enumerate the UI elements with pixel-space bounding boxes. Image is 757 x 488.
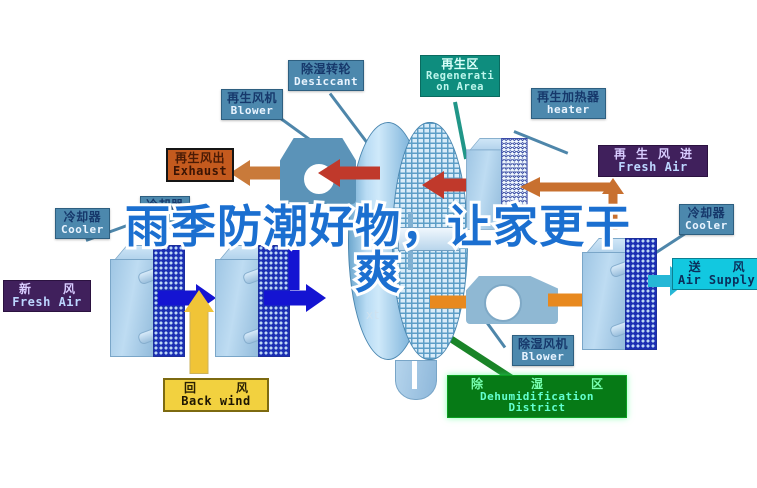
- arrow-regen-hot-1: [318, 160, 380, 186]
- label-dehumidification-district-en2: District: [453, 402, 621, 414]
- label-cooler-right[interactable]: 冷却器 Cooler: [679, 204, 734, 235]
- label-regeneration-fresh-air-cn: 再生风进: [604, 148, 702, 161]
- label-desiccant-rotor-cn: 除湿转轮: [294, 63, 358, 76]
- watermark-text: xt: [366, 308, 380, 322]
- label-dehumidification-blower-cn: 除湿风机: [518, 338, 568, 351]
- label-dehumidification-blower-en: Blower: [518, 351, 568, 363]
- label-cooler-left-en: Cooler: [61, 224, 104, 236]
- label-cooler-left-cn: 冷却器: [61, 211, 104, 224]
- label-regeneration-blower-en: Blower: [227, 105, 277, 117]
- rotor-support-foot: [395, 360, 437, 400]
- label-regeneration-heater-cn: 再生加热器: [537, 91, 600, 104]
- diagram-canvas: xt: [0, 0, 757, 488]
- label-back-wind[interactable]: 回 风 Back wind: [163, 378, 269, 412]
- label-cooler-left[interactable]: 冷却器 Cooler: [55, 208, 110, 239]
- label-regeneration-exhaust-cn: 再生风出: [173, 152, 227, 165]
- label-regeneration-area-cn: 再生区: [426, 58, 494, 71]
- label-air-supply-cn: 送 风: [678, 261, 755, 274]
- label-fresh-air-cn: 新 风: [9, 283, 85, 296]
- label-cooler-right-en: Cooler: [685, 220, 728, 232]
- label-regeneration-heater[interactable]: 再生加热器 heater: [531, 88, 606, 119]
- label-fresh-air[interactable]: 新 风 Fresh Air: [3, 280, 91, 312]
- label-regeneration-blower-cn: 再生风机: [227, 92, 277, 105]
- label-desiccant-rotor-en: Desiccant: [294, 76, 358, 88]
- label-regeneration-exhaust-en: Exhaust: [173, 165, 227, 178]
- label-dehumidification-district[interactable]: 除 湿 区 Dehumidification District: [447, 375, 627, 418]
- label-regeneration-fresh-air-en: Fresh Air: [604, 161, 702, 174]
- label-back-wind-en: Back wind: [170, 395, 262, 408]
- label-regeneration-exhaust[interactable]: 再生风出 Exhaust: [166, 148, 234, 182]
- promo-headline: 雨季防潮好物，让家更干爽: [118, 204, 638, 296]
- label-regeneration-blower[interactable]: 再生风机 Blower: [221, 89, 283, 120]
- label-desiccant-rotor[interactable]: 除湿转轮 Desiccant: [288, 60, 364, 91]
- arrow-back-wind: [184, 290, 214, 374]
- promo-headline-text: 雨季防潮好物，让家更干爽: [125, 200, 631, 299]
- label-cooler-right-cn: 冷却器: [685, 207, 728, 220]
- label-back-wind-cn: 回 风: [170, 382, 262, 395]
- label-dehumidification-blower[interactable]: 除湿风机 Blower: [512, 335, 574, 366]
- label-regeneration-fresh-air[interactable]: 再生风进 Fresh Air: [598, 145, 708, 177]
- label-air-supply[interactable]: 送 风 Air Supply: [672, 258, 757, 290]
- label-regeneration-heater-en: heater: [537, 104, 600, 116]
- label-regeneration-area[interactable]: 再生区 Regenerati on Area: [420, 55, 500, 97]
- label-regeneration-area-en2: on Area: [426, 82, 494, 93]
- label-dehumidification-district-cn: 除 湿 区: [453, 378, 621, 391]
- label-regeneration-area-en1: Regenerati: [426, 71, 494, 82]
- label-air-supply-en: Air Supply: [678, 274, 755, 287]
- label-fresh-air-en: Fresh Air: [9, 296, 85, 309]
